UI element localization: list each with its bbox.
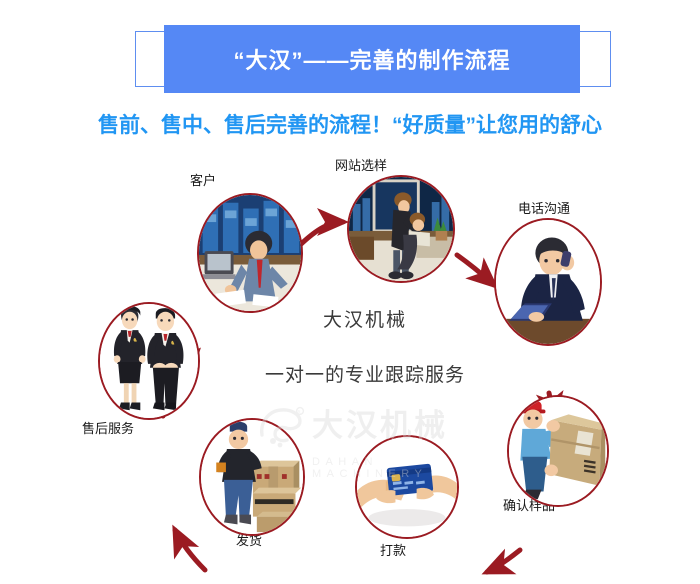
flow-node-customer-label: 客户 <box>133 170 273 189</box>
arrow-sample-to-payment <box>487 550 520 572</box>
two-staff-suits-icon <box>98 302 200 420</box>
flow-node-after-sales-label: 售后服务 <box>38 418 178 437</box>
process-flow-diagram: 客户 <box>0 150 700 584</box>
flow-node-phone-contact-label: 电话沟通 <box>474 198 614 217</box>
page-subtitle: 售前、售中、售后完善的流程！“好质量”让您用的舒心 <box>0 109 700 139</box>
man-with-boxes-icon <box>199 418 305 536</box>
man-on-phone-laptop-icon <box>494 218 602 346</box>
person-at-computer-icon <box>347 175 455 283</box>
arrow-website-to-phone <box>457 255 494 285</box>
worker-carrying-box-icon <box>507 395 609 507</box>
flow-node-payment-label: 打款 <box>323 540 463 559</box>
office-worker-desk-icon <box>197 193 303 313</box>
page-title: “大汉”——完善的制作流程 <box>164 25 580 93</box>
hands-credit-card-icon <box>355 435 459 539</box>
flow-node-website-select-label: 网站选样 <box>291 155 431 174</box>
header-banner: “大汉”——完善的制作流程 <box>0 0 700 100</box>
arrow-customer-to-website <box>300 222 343 245</box>
flowchart-page: “大汉”——完善的制作流程 售前、售中、售后完善的流程！“好质量”让您用的舒心 <box>0 0 700 584</box>
